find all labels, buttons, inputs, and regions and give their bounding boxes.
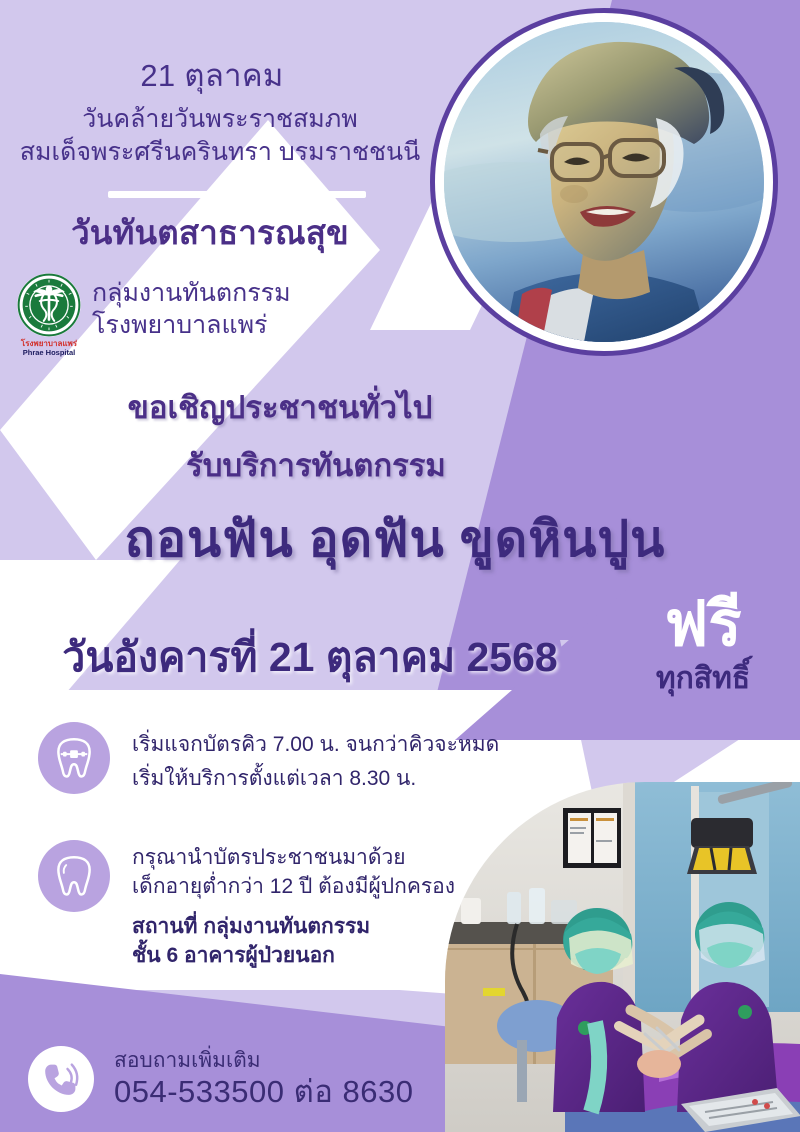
info-row-requirements-text: กรุณานำบัตรประชาชนมาด้วย เด็กอายุต่ำกว่า… xyxy=(132,840,455,971)
contact-row[interactable]: สอบถามเพิ่มเติม 054-533500 ต่อ 8630 xyxy=(28,1046,413,1112)
contact-text: สอบถามเพิ่มเติม 054-533500 ต่อ 8630 xyxy=(114,1048,413,1110)
location-line-1: สถานที่ กลุ่มงานทันตกรรม xyxy=(132,913,455,942)
portrait-frame xyxy=(430,8,778,356)
logo-caption: โรงพยาบาลแพร่ Phrae Hospital xyxy=(8,340,90,357)
department-line-1: กลุ่มงานทันตกรรม xyxy=(92,277,422,309)
queue-line-1: เริ่มแจกบัตรคิว 7.00 น. จนกว่าคิวจะหมด xyxy=(132,728,499,762)
department-block: กลุ่มงานทันตกรรม โรงพยาบาลแพร่ xyxy=(92,277,422,341)
occasion-line-1: วันคล้ายวันพระราชสมภพ xyxy=(0,103,440,136)
services-headline: ถอนฟัน อุดฟัน ขูดหินปูน xyxy=(0,500,790,579)
contact-phone-number[interactable]: 054-533500 ต่อ 8630 xyxy=(114,1073,413,1110)
location-line-2: ชั้น 6 อาคารผู้ป่วยนอก xyxy=(132,942,455,971)
day-name-heading: วันทันตสาธารณสุข xyxy=(0,206,420,259)
info-row-queue-text: เริ่มแจกบัตรคิว 7.00 น. จนกว่าคิวจะหมด เ… xyxy=(132,722,499,796)
department-line-2: โรงพยาบาลแพร่ xyxy=(92,309,422,341)
hospital-logo-block: โรงพยาบาลแพร่ Phrae Hospital xyxy=(8,272,90,357)
event-date: วันอังคารที่ 21 ตุลาคม 2568 xyxy=(10,625,610,690)
all-rights-label: ทุกสิทธิ์ xyxy=(618,655,788,702)
free-label: ฟรี xyxy=(618,596,788,655)
info-row-queue: เริ่มแจกบัตรคิว 7.00 น. จนกว่าคิวจะหมด เ… xyxy=(38,722,499,796)
portrait-princess-srinagarindra-image xyxy=(444,22,764,342)
logo-caption-en: Phrae Hospital xyxy=(8,349,90,357)
requirements-line-1: กรุณานำบัตรประชาชนมาด้วย xyxy=(132,844,455,873)
tooth-icon xyxy=(38,840,110,912)
page-title-date: 21 ตุลาคม xyxy=(0,50,424,100)
invite-line-2: รับบริการทันตกรรม xyxy=(36,440,596,490)
divider xyxy=(108,191,366,198)
phone-ringing-icon xyxy=(28,1046,94,1112)
occasion-text: วันคล้ายวันพระราชสมภพ สมเด็จพระศรีนครินท… xyxy=(0,103,440,169)
poster-root: 21 ตุลาคม วันคล้ายวันพระราชสมภพ สมเด็จพร… xyxy=(0,0,800,1132)
ministry-of-public-health-emblem-icon xyxy=(16,272,82,338)
info-row-requirements: กรุณานำบัตรประชาชนมาด้วย เด็กอายุต่ำกว่า… xyxy=(38,840,455,971)
requirements-line-2: เด็กอายุต่ำกว่า 12 ปี ต้องมีผู้ปกครอง xyxy=(132,873,455,902)
contact-label: สอบถามเพิ่มเติม xyxy=(114,1048,413,1073)
occasion-line-2: สมเด็จพระศรีนครินทรา บรมราชชนนี xyxy=(0,136,440,169)
invite-line-1: ขอเชิญประชาชนทั่วไป xyxy=(0,382,560,432)
tooth-with-braces-icon xyxy=(38,722,110,794)
queue-line-2: เริ่มให้บริการตั้งแต่เวลา 8.30 น. xyxy=(132,762,499,796)
